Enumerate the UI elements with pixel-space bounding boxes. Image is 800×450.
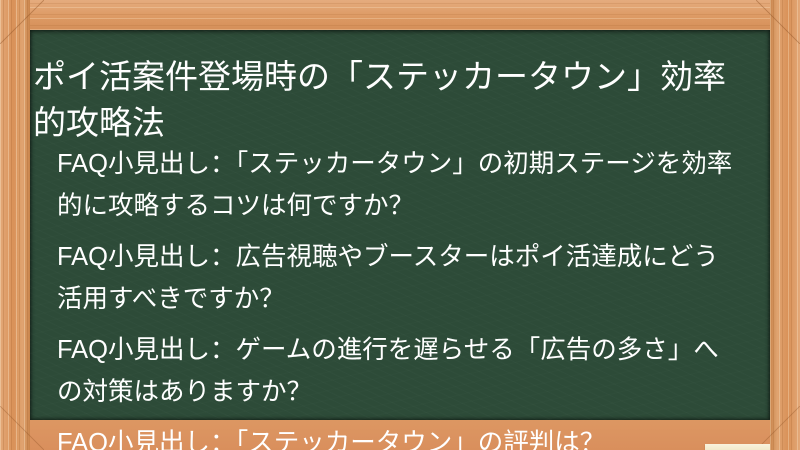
chalk-stick-icon: [705, 444, 770, 450]
chalkboard-content: ポイ活案件登場時の「ステッカータウン」効率的攻略法 FAQ小見出し：「ステッカー…: [30, 30, 770, 450]
frame-plank-left: [0, 0, 30, 450]
list-item: FAQ小見出し：ゲームの進行を遅らせる「広告の多さ」への対策はありますか？: [30, 329, 770, 413]
frame-plank-top: [0, 0, 800, 30]
list-item: FAQ小見出し：「ステッカータウン」の初期ステージを効率的に攻略するコツは何です…: [30, 143, 770, 227]
faq-subheading-list: FAQ小見出し：「ステッカータウン」の初期ステージを効率的に攻略するコツは何です…: [30, 143, 770, 450]
list-item: FAQ小見出し：「ステッカータウン」の評判は？: [30, 422, 770, 450]
page-title: ポイ活案件登場時の「ステッカータウン」効率的攻略法: [33, 54, 751, 146]
frame-plank-right: [770, 0, 800, 450]
list-item: FAQ小見出し：広告視聴やブースターはポイ活達成にどう活用すべきですか？: [30, 236, 770, 320]
chalkboard-graphic: ポイ活案件登場時の「ステッカータウン」効率的攻略法 FAQ小見出し：「ステッカー…: [0, 0, 800, 450]
